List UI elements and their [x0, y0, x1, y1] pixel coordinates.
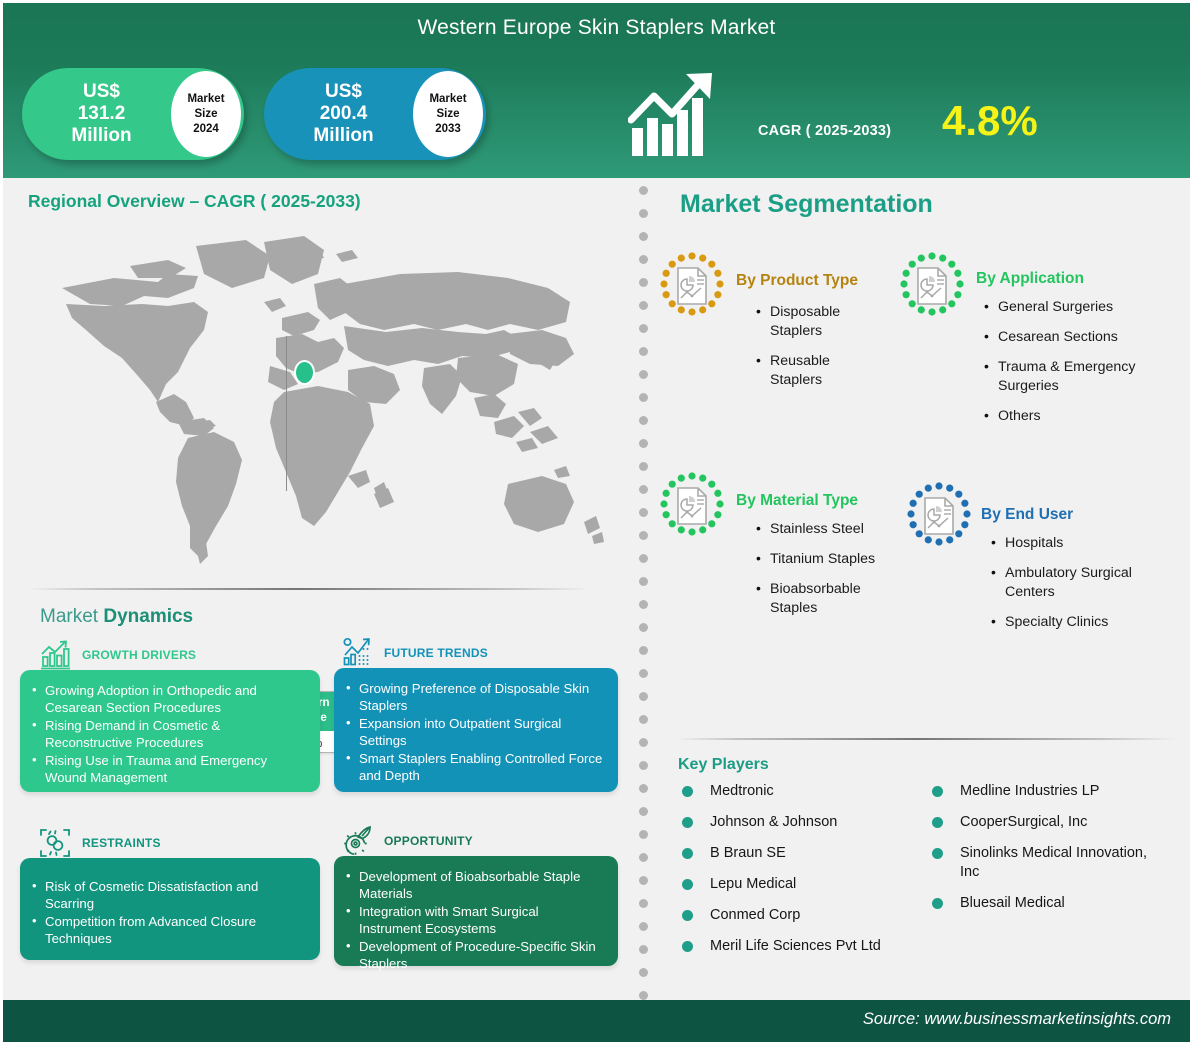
segment-title-material-type: By Material Type	[736, 492, 858, 510]
report-doc-icon-application	[896, 248, 968, 320]
growth-drivers-list: Growing Adoption in Orthopedic and Cesar…	[32, 682, 306, 786]
key-player-item: Bluesail Medical	[928, 894, 1168, 913]
segment-list-product-type: Disposable StaplersReusable Staplers	[754, 303, 864, 401]
footer-bar: Source: www.businessmarketinsights.com	[0, 1000, 1193, 1042]
growth-chart-icon-small	[38, 638, 72, 672]
divider-dot	[639, 439, 648, 448]
restraints-box: Risk of Cosmetic Dissatisfaction and Sca…	[20, 858, 320, 960]
future-trends-header: FUTURE TRENDS	[340, 636, 488, 670]
vertical-dotted-divider	[639, 186, 648, 998]
badge-line-1: Market	[429, 92, 466, 107]
key-player-item: Conmed Corp	[678, 906, 908, 925]
divider-dot	[639, 554, 648, 563]
report-doc-icon-end-user	[903, 478, 975, 550]
segment-title-application: By Application	[976, 270, 1084, 288]
divider-dot	[639, 784, 648, 793]
divider-dot	[639, 531, 648, 540]
unit-2024: Million	[32, 125, 171, 147]
amount-2024: 131.2	[32, 103, 171, 125]
key-player-item: Johnson & Johnson	[678, 813, 908, 832]
unit-2033: Million	[274, 125, 413, 147]
opportunity-box: Development of Bioabsorbable Staple Mate…	[334, 856, 618, 966]
divider-dot	[639, 876, 648, 885]
divider-dot	[639, 600, 648, 609]
opportunity-header: OPPORTUNITY	[340, 824, 473, 858]
trend-analysis-icon	[340, 636, 374, 670]
divider-dot	[639, 186, 648, 195]
dynamics-bullet: Competition from Advanced Closure Techni…	[32, 913, 306, 947]
market-size-badge-2024: Market Size 2024	[171, 71, 241, 157]
key-player-item: Meril Life Sciences Pvt Ltd	[678, 937, 908, 956]
badge-line-2: Size	[436, 107, 459, 122]
market-dynamics-title-bold: Dynamics	[103, 606, 193, 627]
divider-dot	[639, 278, 648, 287]
dynamics-bullet: Development of Procedure-Specific Skin S…	[346, 938, 604, 972]
report-doc-icon-product-type	[656, 248, 728, 320]
cagr-value: 4.8%	[942, 100, 1038, 142]
divider-dot	[639, 922, 648, 931]
dynamics-bullet: Expansion into Outpatient Surgical Setti…	[346, 715, 604, 749]
divider-dot	[639, 830, 648, 839]
key-players-column-right: Medline Industries LPCooperSurgical, Inc…	[928, 782, 1168, 925]
divider-dot	[639, 968, 648, 977]
growth-chart-icon	[628, 72, 718, 158]
segment-item: Others	[982, 407, 1182, 426]
market-dynamics-title-light: Market	[40, 606, 103, 627]
segment-item: General Surgeries	[982, 298, 1182, 317]
segment-list-end-user: HospitalsAmbulatory Surgical CentersSpec…	[989, 534, 1169, 643]
divider-dot	[639, 209, 648, 218]
dynamics-bullet: Rising Demand in Cosmetic & Reconstructi…	[32, 717, 306, 751]
report-doc-icon-material-type	[656, 468, 728, 540]
restraints-list: Risk of Cosmetic Dissatisfaction and Sca…	[32, 870, 306, 947]
divider-dot	[639, 945, 648, 954]
dynamics-bullet: Development of Bioabsorbable Staple Mate…	[346, 868, 604, 902]
divider-dot	[639, 508, 648, 517]
divider-dot	[639, 853, 648, 862]
world-map-svg	[18, 226, 618, 626]
segment-item: Hospitals	[989, 534, 1169, 553]
restraints-label: RESTRAINTS	[82, 836, 161, 850]
dynamics-bullet: Risk of Cosmetic Dissatisfaction and Sca…	[32, 878, 306, 912]
world-map	[18, 226, 618, 626]
divider-dot	[639, 232, 648, 241]
segment-list-material-type: Stainless SteelTitanium StaplesBioabsorb…	[754, 520, 884, 629]
segment-item: Titanium Staples	[754, 550, 884, 569]
divider-dot	[639, 807, 648, 816]
broken-link-icon	[38, 826, 72, 860]
dynamics-bullet: Smart Staplers Enabling Controlled Force…	[346, 750, 604, 784]
future-trends-list: Growing Preference of Disposable Skin St…	[346, 680, 604, 784]
opportunity-label: OPPORTUNITY	[384, 834, 473, 848]
map-pin-western-europe	[294, 360, 315, 385]
market-size-value-2033: US$ 200.4 Million	[264, 81, 413, 147]
currency-2033: US$	[274, 81, 413, 103]
market-size-badge-2033: Market Size 2033	[413, 71, 483, 157]
infographic-page: Western Europe Skin Staplers Market US$ …	[0, 0, 1193, 1048]
growth-drivers-box: Growing Adoption in Orthopedic and Cesar…	[20, 670, 320, 792]
segment-item: Disposable Staplers	[754, 303, 864, 341]
gear-leaf-icon	[340, 824, 374, 858]
segment-item: Specialty Clinics	[989, 613, 1169, 632]
segment-item: Stainless Steel	[754, 520, 884, 539]
divider-dot	[639, 738, 648, 747]
market-size-pill-2024: US$ 131.2 Million Market Size 2024	[22, 68, 244, 160]
dynamics-bullet: Rising Use in Trauma and Emergency Wound…	[32, 752, 306, 786]
opportunity-list: Development of Bioabsorbable Staple Mate…	[346, 868, 604, 972]
divider-dot	[639, 347, 648, 356]
divider-dot	[639, 899, 648, 908]
future-trends-label: FUTURE TRENDS	[384, 646, 488, 660]
key-player-item: Medtronic	[678, 782, 908, 801]
segment-list-application: General SurgeriesCesarean SectionsTrauma…	[982, 298, 1182, 437]
badge-line-1: Market	[187, 92, 224, 107]
cagr-label: CAGR ( 2025-2033)	[758, 123, 891, 139]
segment-item: Cesarean Sections	[982, 328, 1182, 347]
divider-dot	[639, 462, 648, 471]
key-player-item: Medline Industries LP	[928, 782, 1168, 801]
source-label: Source: www.businessmarketinsights.com	[863, 1010, 1171, 1029]
badge-line-3: 2024	[193, 122, 219, 137]
divider-dot	[639, 324, 648, 333]
segment-item: Reusable Staplers	[754, 352, 864, 390]
amount-2033: 200.4	[274, 103, 413, 125]
divider-dot	[639, 991, 648, 1000]
badge-line-3: 2033	[435, 122, 461, 137]
currency-2024: US$	[32, 81, 171, 103]
restraints-header: RESTRAINTS	[38, 826, 161, 860]
left-panel: Regional Overview – CAGR ( 2025-2033)	[0, 178, 639, 1000]
future-trends-box: Growing Preference of Disposable Skin St…	[334, 668, 618, 792]
growth-drivers-header: GROWTH DRIVERS	[38, 638, 196, 672]
key-player-item: Lepu Medical	[678, 875, 908, 894]
divider-dot	[639, 485, 648, 494]
divider-dot	[639, 715, 648, 724]
divider-dot	[639, 577, 648, 586]
dynamics-bullet: Growing Adoption in Orthopedic and Cesar…	[32, 682, 306, 716]
market-size-pill-2033: US$ 200.4 Million Market Size 2033	[264, 68, 486, 160]
segment-item: Trauma & Emergency Surgeries	[982, 358, 1182, 396]
divider-dot	[639, 669, 648, 678]
header-banner: Western Europe Skin Staplers Market US$ …	[0, 0, 1193, 178]
dynamics-bullet: Growing Preference of Disposable Skin St…	[346, 680, 604, 714]
key-player-item: CooperSurgical, Inc	[928, 813, 1168, 832]
divider-key-players	[676, 738, 1176, 740]
divider-dot	[639, 301, 648, 310]
map-pin-connector	[286, 336, 287, 491]
key-player-item: Sinolinks Medical Innovation, Inc	[928, 844, 1168, 882]
market-segmentation-title: Market Segmentation	[680, 190, 933, 219]
divider-dot	[639, 646, 648, 655]
segment-title-product-type: By Product Type	[736, 272, 858, 290]
divider-dot	[639, 393, 648, 402]
divider-market-dynamics	[28, 588, 590, 590]
divider-dot	[639, 623, 648, 632]
divider-dot	[639, 761, 648, 770]
key-player-item: B Braun SE	[678, 844, 908, 863]
dynamics-bullet: Integration with Smart Surgical Instrume…	[346, 903, 604, 937]
segment-item: Ambulatory Surgical Centers	[989, 564, 1169, 602]
page-title: Western Europe Skin Staplers Market	[0, 16, 1193, 40]
key-players-title: Key Players	[678, 756, 769, 774]
divider-dot	[639, 416, 648, 425]
right-panel: Market Segmentation	[648, 178, 1193, 1000]
divider-dot	[639, 370, 648, 379]
segment-title-end-user: By End User	[981, 506, 1073, 524]
market-dynamics-title: Market Dynamics	[40, 606, 193, 628]
badge-line-2: Size	[194, 107, 217, 122]
market-size-value-2024: US$ 131.2 Million	[22, 81, 171, 147]
divider-dot	[639, 255, 648, 264]
divider-dot	[639, 692, 648, 701]
regional-overview-title: Regional Overview – CAGR ( 2025-2033)	[28, 191, 361, 212]
segment-item: Bioabsorbable Staples	[754, 580, 884, 618]
growth-drivers-label: GROWTH DRIVERS	[82, 648, 196, 662]
key-players-column-left: MedtronicJohnson & JohnsonB Braun SELepu…	[678, 782, 908, 968]
